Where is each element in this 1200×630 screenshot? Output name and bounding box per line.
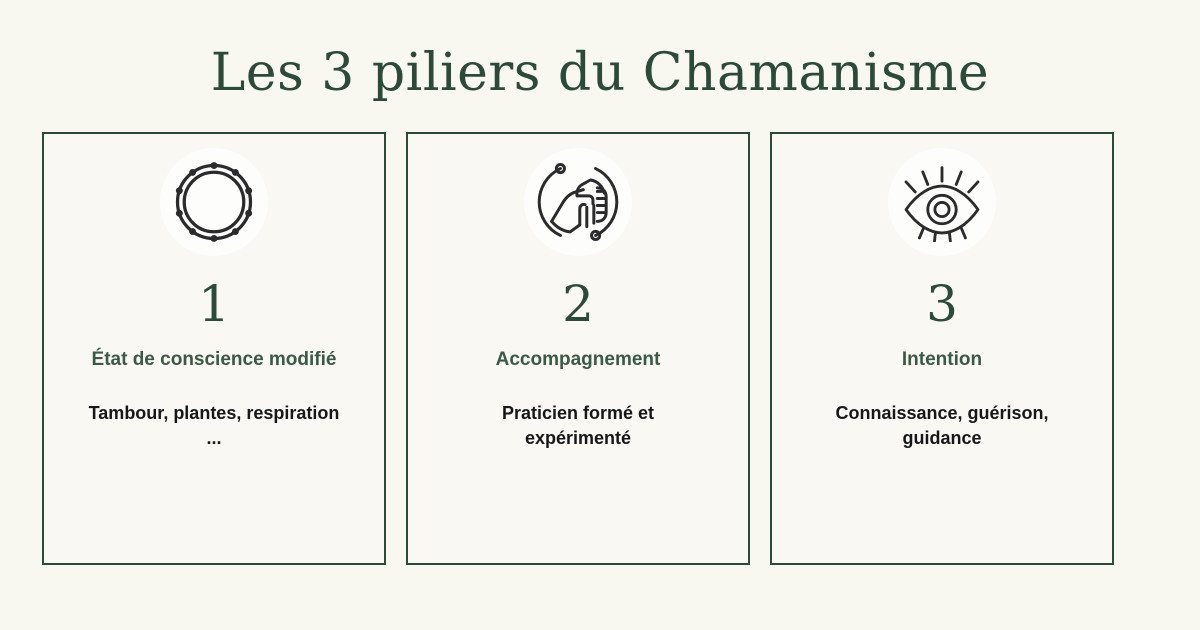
eye-icon (896, 162, 988, 242)
page-title: Les 3 piliers du Chamanisme (0, 44, 1200, 102)
pillar-number-1: 1 (198, 278, 230, 330)
infographic-canvas: Les 3 piliers du Chamanisme (0, 0, 1200, 630)
pillar-card-3[interactable]: 3 Intention Connaissance, guérison, guid… (770, 132, 1114, 565)
pillar-heading-1: État de conscience modifié (78, 348, 351, 373)
pillar-body-2: Praticien formé et expérimenté (428, 401, 728, 451)
pillar-body-3: Connaissance, guérison, guidance (792, 401, 1092, 451)
pillar-body-1: Tambour, plantes, respiration ... (64, 401, 364, 451)
pillar-heading-2: Accompagnement (482, 348, 675, 373)
pillar-card-2[interactable]: 2 Accompagnement Praticien formé et expé… (406, 132, 750, 565)
pillar-number-2: 2 (562, 278, 594, 330)
drum-icon (166, 154, 262, 250)
icon-halo-3 (888, 148, 996, 256)
pillars-row: 1 État de conscience modifié Tambour, pl… (42, 132, 1114, 565)
pillar-card-1[interactable]: 1 État de conscience modifié Tambour, pl… (42, 132, 386, 565)
pillar-heading-3: Intention (888, 348, 996, 373)
icon-halo-2 (524, 148, 632, 256)
icon-halo-1 (160, 148, 268, 256)
handshake-icon (534, 158, 622, 246)
pillar-number-3: 3 (926, 278, 958, 330)
